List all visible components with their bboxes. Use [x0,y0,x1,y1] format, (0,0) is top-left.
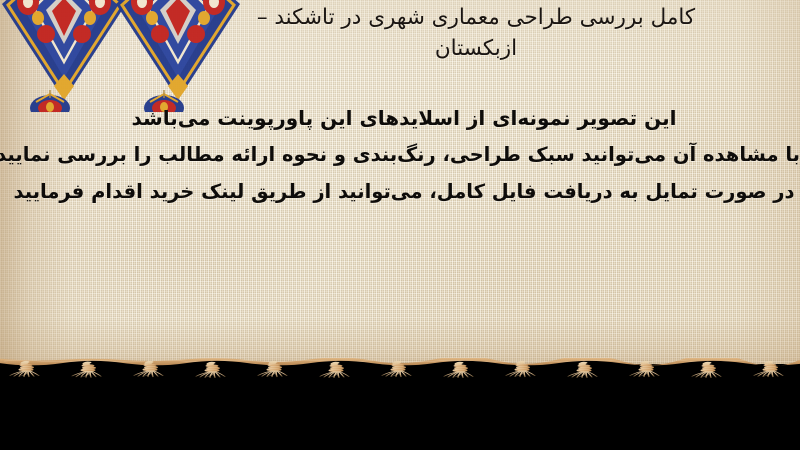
slide-title-line: ازبکستان [196,34,756,65]
slide-body: این تصویر نمونه‌ای از اسلایدهای این پاور… [8,108,800,218]
slide-title: کامل بررسی طراحی معماری شهری در تاشکند –… [196,3,756,64]
body-line-3: در صورت تمایل به دریافت فایل کامل، می‌تو… [8,182,800,202]
body-line-1: این تصویر نمونه‌ای از اسلایدهای این پاور… [8,108,800,128]
body-line-2: با مشاهده آن می‌توانید سبک طراحی، رنگ‌بن… [8,145,800,165]
presentation-slide: کامل بررسی طراحی معماری شهری در تاشکند –… [0,0,800,450]
slide-text-layer: کامل بررسی طراحی معماری شهری در تاشکند –… [0,0,800,378]
slide-title-line: کامل بررسی طراحی معماری شهری در تاشکند – [196,3,756,34]
bottom-black-band [0,364,800,450]
